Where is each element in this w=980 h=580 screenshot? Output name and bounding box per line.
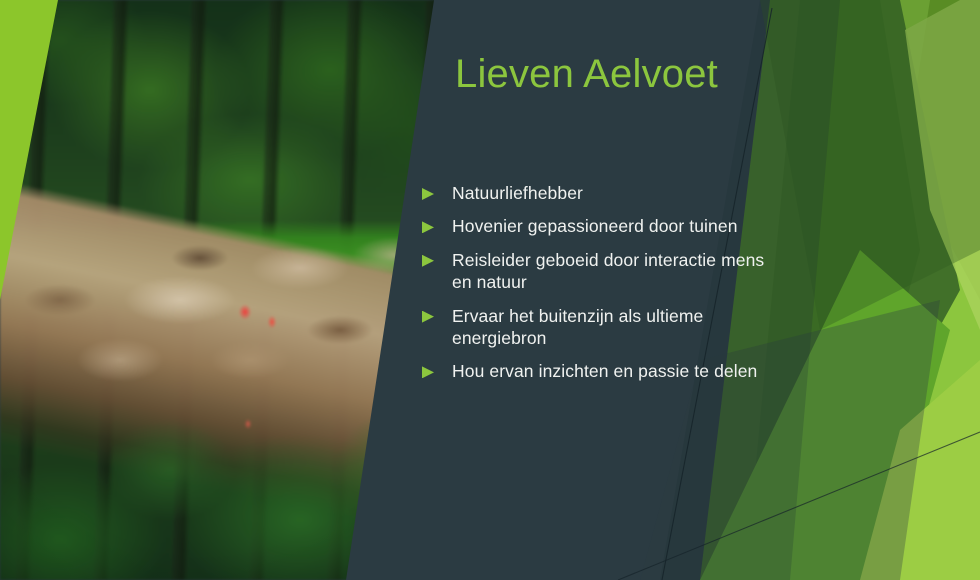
- list-item: Hou ervan inzichten en passie te delen: [422, 360, 782, 382]
- list-item-label: Reisleider geboeid door interactie mens …: [452, 249, 782, 294]
- list-item: Reisleider geboeid door interactie mens …: [422, 249, 782, 294]
- triangle-right-icon: [422, 221, 434, 233]
- list-item-label: Hou ervan inzichten en passie te delen: [452, 360, 757, 382]
- list-item: Natuurliefhebber: [422, 182, 782, 204]
- presentation-slide: Lieven Aelvoet Natuurliefhebber Hovenier…: [0, 0, 980, 580]
- list-item: Ervaar het buitenzijn als ultieme energi…: [422, 305, 782, 350]
- triangle-right-icon: [422, 188, 434, 200]
- list-item: Hovenier gepassioneerd door tuinen: [422, 215, 782, 237]
- page-title: Lieven Aelvoet: [455, 52, 925, 97]
- bullet-list: Natuurliefhebber Hovenier gepassioneerd …: [422, 182, 782, 394]
- list-item-label: Ervaar het buitenzijn als ultieme energi…: [452, 305, 782, 350]
- triangle-right-icon: [422, 311, 434, 323]
- triangle-right-icon: [422, 255, 434, 267]
- list-item-label: Natuurliefhebber: [452, 182, 583, 204]
- triangle-right-icon: [422, 366, 434, 378]
- list-item-label: Hovenier gepassioneerd door tuinen: [452, 215, 738, 237]
